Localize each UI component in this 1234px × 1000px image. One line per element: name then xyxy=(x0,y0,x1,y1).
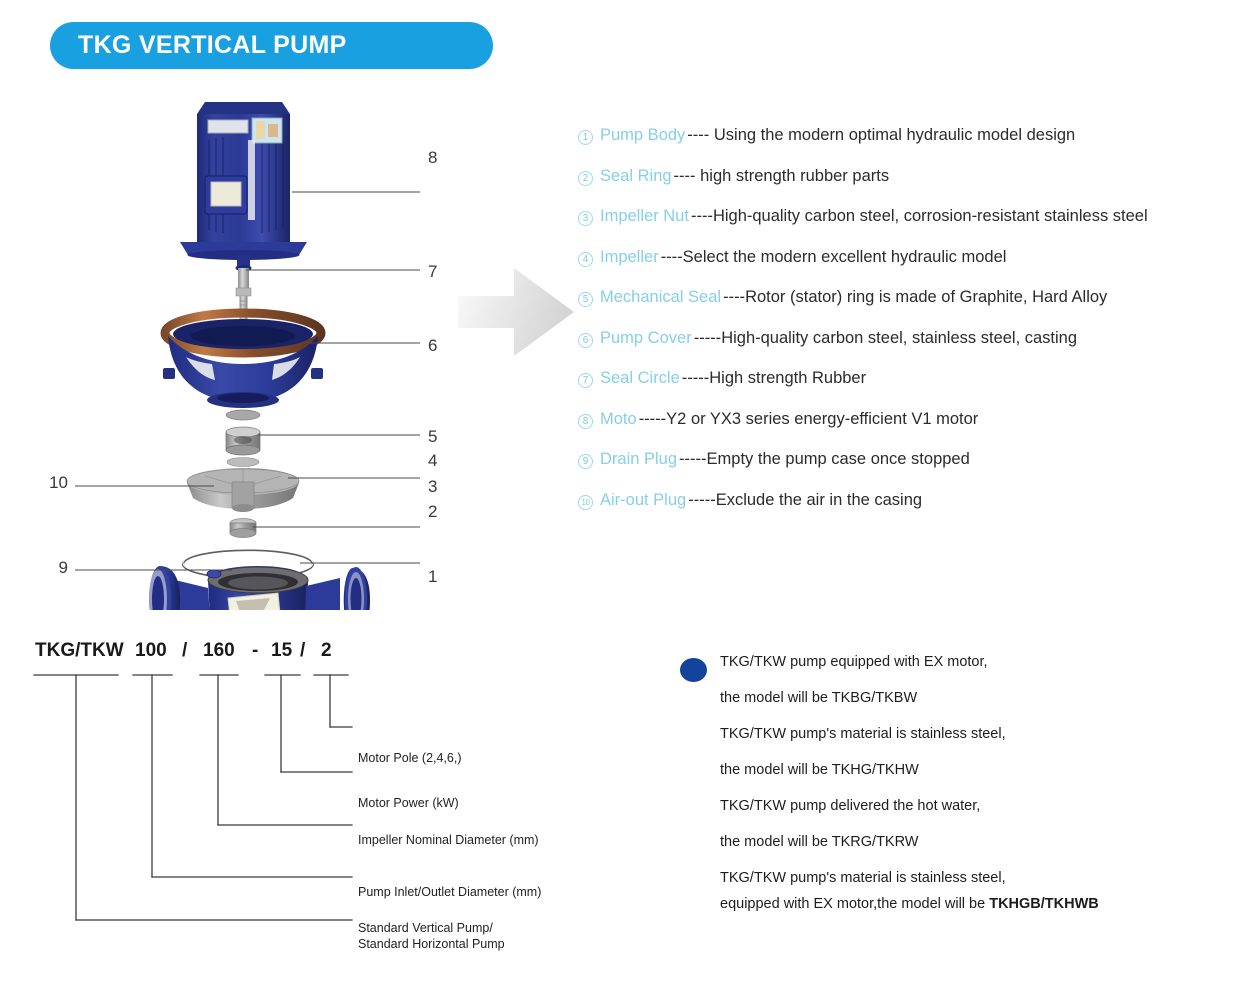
note-line-3: TKG/TKW pump's material is stainless ste… xyxy=(680,724,1220,760)
part-legend-row-6: 6 Pump Cover -----High-quality carbon st… xyxy=(578,329,1218,370)
part-desc-3: ----High-quality carbon steel, corrosion… xyxy=(691,207,1148,226)
callout-number-10: 10 xyxy=(49,473,68,493)
right-arrow-icon xyxy=(452,248,580,376)
callout-number-2: 2 xyxy=(428,502,437,522)
model-nomenclature-diagram xyxy=(0,625,600,955)
part-air-out-plug xyxy=(207,570,221,578)
page-title: TKG VERTICAL PUMP xyxy=(50,31,347,60)
part-legend-row-8: 8 Moto -----Y2 or YX3 series energy-effi… xyxy=(578,410,1218,451)
part-name-2: Seal Ring xyxy=(600,167,674,186)
part-name-3: Impeller Nut xyxy=(600,207,691,226)
part-motor xyxy=(180,102,307,260)
part-impeller-nut xyxy=(230,519,256,538)
part-desc-7: -----High strength Rubber xyxy=(682,369,866,388)
callout-number-7: 7 xyxy=(428,262,437,282)
part-legend-row-10: 10 Air-out Plug -----Exclude the air in … xyxy=(578,491,1218,532)
part-desc-10: -----Exclude the air in the casing xyxy=(688,491,922,510)
bullet-icon xyxy=(680,658,707,682)
part-bullet-10: 10 xyxy=(578,493,600,510)
part-desc-5: ----Rotor (stator) ring is made of Graph… xyxy=(723,288,1107,307)
part-desc-1: ---- Using the modern optimal hydraulic … xyxy=(687,126,1075,145)
part-desc-2: ---- high strength rubber parts xyxy=(674,167,890,186)
part-bullet-4: 4 xyxy=(578,250,600,267)
part-mechanical-seal xyxy=(226,410,260,467)
part-bullet-2: 2 xyxy=(578,169,600,186)
note-line-4: the model will be TKHG/TKHW xyxy=(680,760,1220,796)
part-bullet-7: 7 xyxy=(578,371,600,388)
nomenclature-label-motor-pole: Motor Pole (2,4,6,) xyxy=(358,750,462,766)
model-variant-notes: TKG/TKW pump equipped with EX motor, the… xyxy=(680,652,1220,930)
part-legend-row-5: 5 Mechanical Seal ----Rotor (stator) rin… xyxy=(578,288,1218,329)
part-name-9: Drain Plug xyxy=(600,450,679,469)
part-legend-row-9: 9 Drain Plug -----Empty the pump case on… xyxy=(578,450,1218,491)
part-bullet-9: 9 xyxy=(578,452,600,469)
callout-number-5: 5 xyxy=(428,427,437,447)
part-desc-9: -----Empty the pump case once stopped xyxy=(679,450,970,469)
note-line-5: TKG/TKW pump delivered the hot water, xyxy=(680,796,1220,832)
nomenclature-label-motor-power: Motor Power (kW) xyxy=(358,795,459,811)
part-name-5: Mechanical Seal xyxy=(600,288,723,307)
part-legend-row-4: 4 Impeller ----Select the modern excelle… xyxy=(578,248,1218,289)
part-name-6: Pump Cover xyxy=(600,329,694,348)
part-desc-4: ----Select the modern excellent hydrauli… xyxy=(661,248,1007,267)
part-bullet-6: 6 xyxy=(578,331,600,348)
part-name-1: Pump Body xyxy=(600,126,687,145)
exploded-pump-diagram xyxy=(0,80,470,610)
callout-number-3: 3 xyxy=(428,477,437,497)
note-line-8: equipped with EX motor,the model will be… xyxy=(680,894,1220,930)
nomenclature-label-impeller-diameter: Impeller Nominal Diameter (mm) xyxy=(358,832,539,848)
part-name-10: Air-out Plug xyxy=(600,491,688,510)
part-legend-row-7: 7 Seal Circle -----High strength Rubber xyxy=(578,369,1218,410)
part-name-8: Moto xyxy=(600,410,639,429)
callout-number-1: 1 xyxy=(428,567,437,587)
part-legend-row-3: 3 Impeller Nut ----High-quality carbon s… xyxy=(578,207,1218,248)
callout-number-6: 6 xyxy=(428,336,437,356)
callout-number-9: 9 xyxy=(59,558,68,578)
parts-legend: 1 Pump Body ---- Using the modern optima… xyxy=(578,126,1218,531)
page-title-banner: TKG VERTICAL PUMP xyxy=(50,22,493,69)
callout-number-4: 4 xyxy=(428,451,437,471)
nomenclature-label-standard-pump: Standard Vertical Pump/ Standard Horizon… xyxy=(358,920,505,952)
note-line-1: TKG/TKW pump equipped with EX motor, xyxy=(680,652,1220,688)
note-line-6: the model will be TKRG/TKRW xyxy=(680,832,1220,868)
callout-number-8: 8 xyxy=(428,148,437,168)
part-bullet-1: 1 xyxy=(578,128,600,145)
part-bullet-5: 5 xyxy=(578,290,600,307)
part-pump-cover xyxy=(163,313,323,408)
part-legend-row-2: 2 Seal Ring ---- high strength rubber pa… xyxy=(578,167,1218,208)
part-legend-row-1: 1 Pump Body ---- Using the modern optima… xyxy=(578,126,1218,167)
part-desc-6: -----High-quality carbon steel, stainles… xyxy=(694,329,1077,348)
nomenclature-label-inlet-outlet-diameter: Pump Inlet/Outlet Diameter (mm) xyxy=(358,884,541,900)
note-line-7: TKG/TKW pump's material is stainless ste… xyxy=(680,868,1220,894)
part-pump-body xyxy=(149,566,370,610)
part-bullet-3: 3 xyxy=(578,209,600,226)
note-line-2: the model will be TKBG/TKBW xyxy=(680,688,1220,724)
part-desc-8: -----Y2 or YX3 series energy-efficient V… xyxy=(639,410,979,429)
part-name-7: Seal Circle xyxy=(600,369,682,388)
part-bullet-8: 8 xyxy=(578,412,600,429)
part-name-4: Impeller xyxy=(600,248,661,267)
part-impeller xyxy=(187,468,299,512)
